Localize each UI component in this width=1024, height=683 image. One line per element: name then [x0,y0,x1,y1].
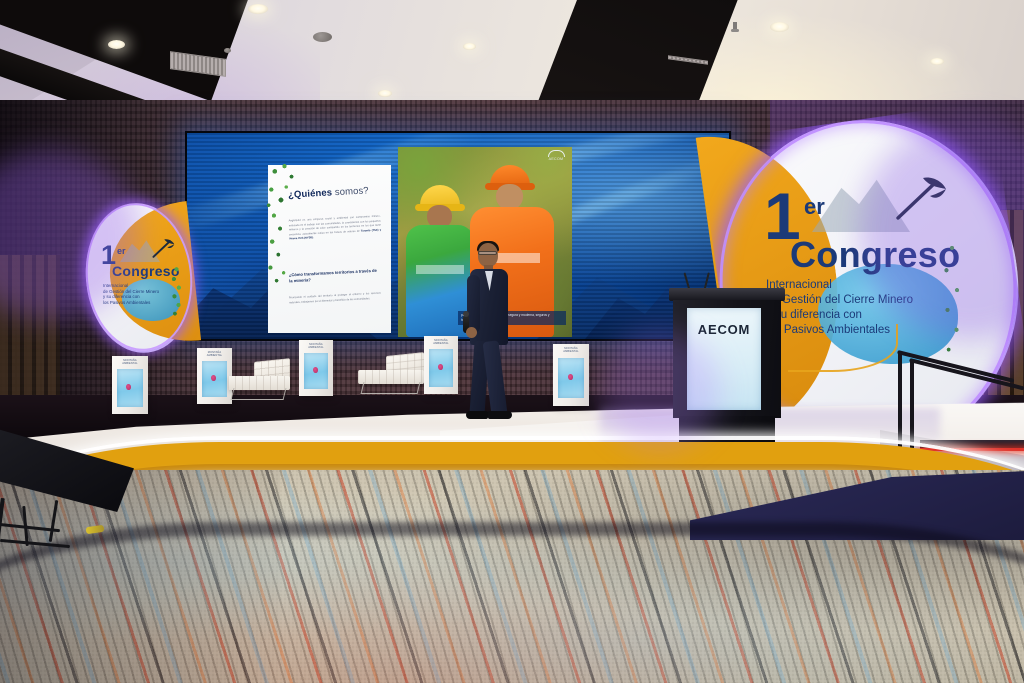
pedestal-logo-line-2: AMBIENTAL [428,342,454,345]
stage-chair[interactable] [228,352,290,400]
stand-leg [49,500,59,542]
stage-chair[interactable] [358,344,424,394]
slide-heading-light: somos? [332,185,369,198]
conference-stage-photo: ¿Quiénes somos? AngloGold es una empresa… [0,0,1024,683]
vine-leaves-icon [170,265,183,319]
ceiling-downlight [378,90,392,97]
monitor-stand [0,498,90,548]
pedestal-screen[interactable] [429,349,453,387]
stand-crossbar [0,539,70,548]
pedestal-logo-line-2: AMBIENTAL [557,350,585,353]
pickaxe-icon [890,176,950,224]
slide-answer: Priorizando el cuidado del territorio al… [289,292,381,306]
led-watermark: AECOM [536,150,576,162]
display-pedestal[interactable]: MONTAÑA AMBIENTAL [112,356,148,414]
pickaxe-icon [150,238,176,260]
stage-banner-left: 1 er Congreso Internacional de Gestión d… [86,203,194,353]
brand-mark-icon [438,364,443,370]
pedestal-logo: MONTAÑA AMBIENTAL [201,351,228,357]
logo-ordinal: er [804,194,825,220]
slide-body-text: AngloGold es una empresa social y ambien… [288,215,381,236]
led-watermark-label: AECOM [549,157,564,161]
hand [466,327,477,338]
shoe-right [488,411,512,419]
display-pedestal[interactable]: MONTAÑA AMBIENTAL [424,336,458,394]
shoe-left [466,411,488,419]
pedestal-screen[interactable] [558,358,584,398]
congress-logo-small: 1 er Congreso Internacional de Gestión d… [100,237,186,323]
congress-logo-large: 1 er Congreso Internacional de Gestión d… [760,172,976,372]
pedestal-logo-line-2: AMBIENTAL [303,346,329,349]
confidence-monitor[interactable] [0,428,144,548]
brand-mark-icon [211,375,216,381]
display-pedestal[interactable]: MONTAÑA AMBIENTAL [299,340,333,396]
ceiling-speaker [313,32,332,42]
logo-subtitle: Internacional de Gestión del Cierre Mine… [103,283,159,306]
ceiling-downlight [930,58,944,65]
pedestal-logo: MONTAÑA AMBIENTAL [116,359,144,365]
lectern-brand-panel: AECOM [687,308,761,410]
logo-subtitle-line-1: Internacional [766,278,913,293]
stage-drop-shadow [0,522,1024,683]
logo-ordinal: er [117,246,126,256]
vine-leaves-icon [938,238,966,362]
chair-legs [360,382,420,394]
gold-swoosh-icon [788,324,898,372]
logo-word-congreso: Congreso [790,234,960,276]
display-pedestal[interactable]: MONTAÑA AMBIENTAL [197,348,232,404]
pedestal-logo-line-2: AMBIENTAL [201,354,228,357]
leg-right [483,340,508,415]
sprinkler-head [733,22,737,31]
brand-mark-icon [313,367,318,373]
pedestal-logo: MONTAÑA AMBIENTAL [557,347,585,353]
cable-tape-marker [86,525,105,534]
ceiling-downlight [108,40,125,49]
logo-subtitle-line-2: de Gestión del Cierre Minero [766,293,913,308]
pedestal-logo: MONTAÑA AMBIENTAL [303,343,329,349]
pedestal-logo-line-2: AMBIENTAL [116,362,144,365]
legs [472,341,508,417]
eyeglasses-icon [478,251,497,255]
presentation-slide: ¿Quiénes somos? AngloGold es una empresa… [268,165,391,333]
logo-subtitle-line-3: y su diferencia con [766,308,913,323]
logo-subtitle-line-4: los Pasivos Ambientales [103,300,159,306]
stand-leg [0,498,5,544]
speaker-presenter [458,243,520,431]
pedestal-screen[interactable] [117,369,143,407]
pedestal-screen[interactable] [202,361,227,397]
ceiling-downlight [770,22,789,32]
brand-mark-icon [126,384,131,390]
brand-mark-icon [568,374,573,380]
pedestal-logo: MONTAÑA AMBIENTAL [428,339,454,345]
pedestal-screen[interactable] [304,353,328,389]
chair-legs [230,388,286,400]
head [478,243,498,267]
lectern-brand-label: AECOM [698,322,750,337]
slide-heading-bold: ¿Quiénes [288,187,333,200]
display-pedestal[interactable]: MONTAÑA AMBIENTAL [553,344,589,406]
ceiling-downlight [248,4,268,14]
ceiling-downlight [463,43,476,50]
slide-body-paragraph: AngloGold es una empresa social y ambien… [288,215,381,242]
ceiling-speaker [224,48,231,53]
arc-icon [548,150,565,157]
